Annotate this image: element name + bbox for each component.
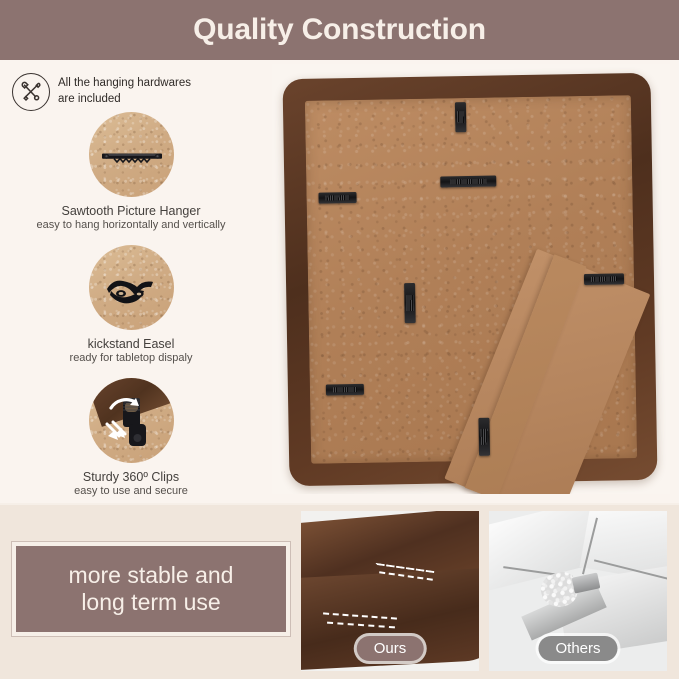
mdf-backing-board — [305, 95, 637, 464]
hardware-text-line2: are included — [58, 92, 191, 108]
page-title: Quality Construction — [193, 13, 486, 47]
claim-box: more stable and long term use — [12, 542, 290, 636]
feature-title: Sawtooth Picture Hanger — [0, 204, 262, 218]
section-divider — [0, 503, 679, 505]
comparison-ours: Ours — [301, 511, 479, 671]
hardware-included-callout: All the hanging hardwares are included — [12, 68, 260, 116]
feature-subtitle: easy to hang horizontally and vertically — [0, 219, 262, 231]
clip-rotation-graphic — [89, 378, 174, 463]
kickstand-easel-photo — [89, 245, 174, 330]
frame-clip — [440, 176, 496, 188]
claim-text: more stable and long term use — [69, 562, 234, 616]
feature-subtitle: ready for tabletop dispaly — [0, 352, 262, 364]
tools-wrench-screwdriver-icon — [12, 73, 50, 111]
feature-title: Sturdy 360º Clips — [0, 470, 262, 484]
frame-clip — [404, 283, 416, 323]
frame-clip — [326, 384, 364, 396]
frame-clip — [318, 192, 356, 204]
frame-clip — [478, 418, 490, 456]
hardware-included-text: All the hanging hardwares are included — [58, 76, 191, 107]
kickstand-hardware-graphic — [101, 273, 163, 305]
feature-kickstand-easel: kickstand Easel ready for tabletop dispa… — [0, 245, 262, 364]
comparison-others: Others — [489, 511, 667, 671]
feature-sawtooth-hanger: Sawtooth Picture Hanger easy to hang hor… — [0, 112, 262, 231]
frame-clip — [584, 273, 624, 285]
header-banner: Quality Construction — [0, 0, 679, 60]
frame-clip — [455, 102, 467, 132]
sawtooth-hardware-graphic — [102, 153, 162, 164]
badge-others: Others — [538, 636, 617, 661]
feature-subtitle: easy to use and secure — [0, 485, 262, 497]
wooden-frame-border — [282, 73, 657, 486]
feature-title: kickstand Easel — [0, 337, 262, 351]
badge-ours: Ours — [357, 636, 424, 661]
frame-back-photo — [272, 64, 670, 494]
feature-rotating-clips: Sturdy 360º Clips easy to use and secure — [0, 378, 262, 497]
hardware-text-line1: All the hanging hardwares — [58, 76, 191, 92]
infographic-page: Quality Construction All the hanging har… — [0, 0, 679, 679]
rotating-clips-photo — [89, 378, 174, 463]
sawtooth-hanger-photo — [89, 112, 174, 197]
